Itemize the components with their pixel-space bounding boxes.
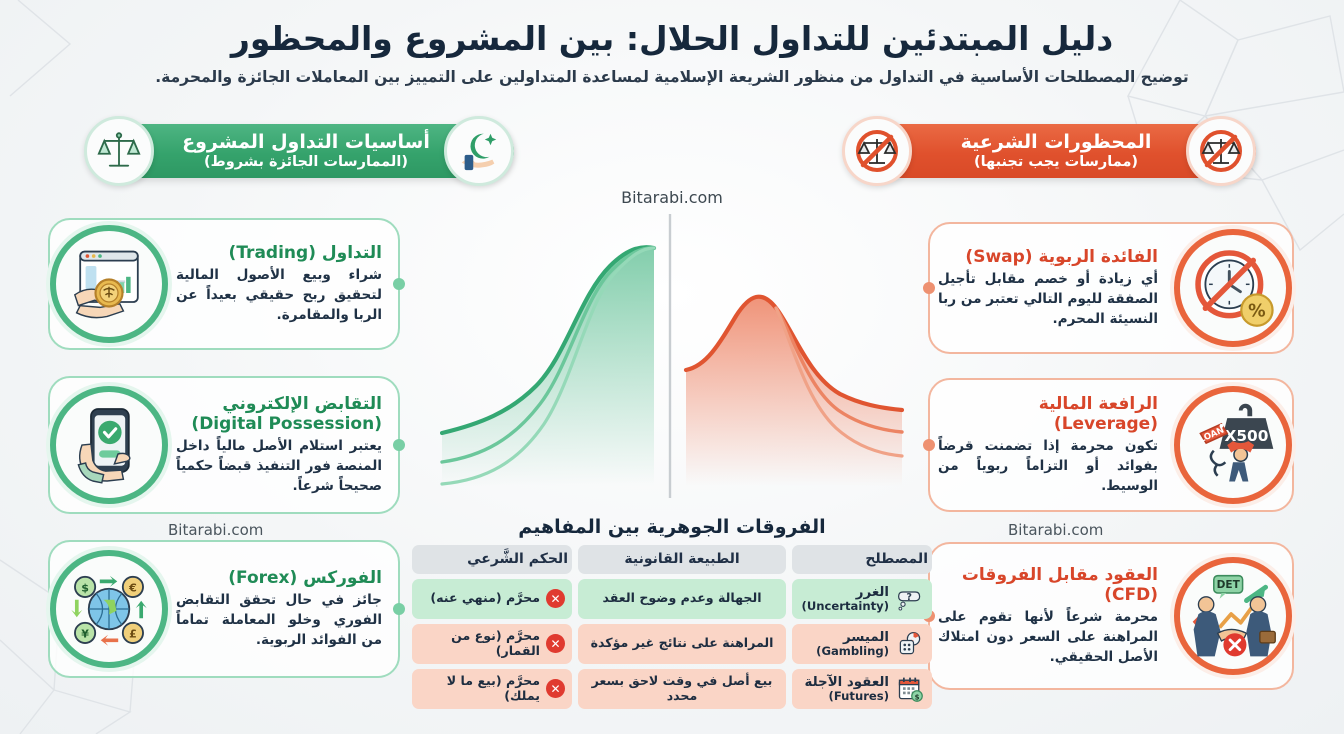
table-row[interactable]: ? الغرر (Uncertainty) الجهالة وعدم وضوح … <box>412 579 932 619</box>
cell-nature: المراهنة على نتائج غير مؤكدة <box>578 624 786 664</box>
table-header-row: المصطلح الطبيعة القانونية الحكم الشَّرعي <box>412 545 932 574</box>
term-arabic: الميسر <box>799 630 889 645</box>
cell-rule: ✕ محرَّم (بيع ما لا يملك) <box>412 669 572 709</box>
connector-dot <box>393 278 405 290</box>
comparison-table: الفروقات الجوهرية بين المفاهيم المصطلح ا… <box>412 516 932 714</box>
cell-nature: بيع أصل في وقت لاحق بسعر محدد <box>578 669 786 709</box>
table-row[interactable]: $ العقود الآجلة (Futures) بيع أصل في وقت… <box>412 669 932 709</box>
rule-text: محرَّم (منهي عنه) <box>430 591 540 605</box>
card-cfd[interactable]: العقود مقابل الفروقات (CFD) محرمة شرعاً … <box>928 542 1294 690</box>
term-arabic: العقود الآجلة <box>799 675 889 690</box>
svg-text:£: £ <box>129 628 137 641</box>
cell-term: الميسر (Gambling) <box>792 624 932 664</box>
banner-prohibited-title: المحظورات الشرعية <box>961 132 1152 153</box>
crescent-hand-icon <box>444 116 514 186</box>
term-english: (Futures) <box>799 690 889 703</box>
rule-text: محرَّم (بيع ما لا يملك) <box>419 674 540 703</box>
term-english: (Uncertainty) <box>799 600 889 613</box>
handshake-chart-x-icon: DET <box>1174 557 1292 675</box>
card-forex-body: جائز في حال تحقق التقابض الفوري وخلو الم… <box>176 591 382 650</box>
cell-rule: ✕ محرَّم (منهي عنه) <box>412 579 572 619</box>
card-cfd-heading: العقود مقابل الفروقات (CFD) <box>938 565 1158 606</box>
card-leverage-heading: الرافعة المالية (Leverage) <box>938 394 1158 435</box>
x-mark-icon: ✕ <box>546 634 565 653</box>
card-leverage-body: تكون محرمة إذا تضمنت قرضاً بفوائد أو الت… <box>938 437 1158 496</box>
infographic-canvas: دليل المبتدئين للتداول الحلال: بين المشر… <box>0 0 1344 734</box>
svg-text:$: $ <box>915 693 920 701</box>
prohibited-scales-icon <box>1186 116 1256 186</box>
term-english: (Gambling) <box>799 645 889 658</box>
watermark-right: Bitarabi.com <box>1008 521 1103 539</box>
watermark-left: Bitarabi.com <box>168 521 263 539</box>
card-digital-possession-heading: التقابض الإلكتروني (Digital Possession) <box>176 394 382 435</box>
banner-permitted-title: أساسيات التداول المشروع <box>182 132 430 153</box>
watermark-center: Bitarabi.com <box>0 188 1344 207</box>
weight-x500-loan-icon: X500 LOAN <box>1174 386 1292 504</box>
trading-screen-hands-coin-icon <box>50 225 168 343</box>
card-swap-heading: الفائدة الربوية (Swap) <box>938 247 1158 267</box>
cell-rule: ✕ محرَّم (نوع من القمار) <box>412 624 572 664</box>
dice-lifering-icon <box>895 629 925 659</box>
banner-prohibited-subtitle: (ممارسات يجب تجنبها) <box>961 154 1152 170</box>
page-title: دليل المبتدئين للتداول الحلال: بين المشر… <box>0 18 1344 59</box>
column-header-nature: الطبيعة القانونية <box>578 545 786 574</box>
cell-term: ? الغرر (Uncertainty) <box>792 579 932 619</box>
banner-permitted-subtitle: (الممارسات الجائزة بشروط) <box>182 154 430 170</box>
card-trading-heading: التداول (Trading) <box>176 243 382 263</box>
globe-currency-exchange-icon: $ € ¥ £ <box>50 550 168 668</box>
svg-text:%: % <box>1248 302 1266 322</box>
svg-text:¥: ¥ <box>81 628 89 641</box>
prohibited-scales-icon <box>842 116 912 186</box>
comparison-table-title: الفروقات الجوهرية بين المفاهيم <box>412 516 932 538</box>
connector-dot <box>393 439 405 451</box>
rule-text: محرَّم (نوع من القمار) <box>419 629 540 658</box>
table-row[interactable]: الميسر (Gambling) المراهنة على نتائج غير… <box>412 624 932 664</box>
card-swap[interactable]: الفائدة الربوية (Swap) أي زيادة أو خصم م… <box>928 222 1294 354</box>
prohibited-clock-percent-icon: % <box>1174 229 1292 347</box>
halal-vs-haram-area-chart <box>440 186 904 508</box>
card-forex-heading: الفوركس (Forex) <box>176 568 382 588</box>
cfd-bubble-label: DET <box>1217 579 1241 591</box>
term-arabic: الغرر <box>799 585 889 600</box>
card-swap-body: أي زيادة أو خصم مقابل تأجيل الصفقة لليوم… <box>938 270 1158 329</box>
column-header-rule: الحكم الشَّرعي <box>412 545 572 574</box>
svg-text:€: € <box>128 582 137 595</box>
svg-text:?: ? <box>906 591 912 602</box>
column-header-term: المصطلح <box>792 545 932 574</box>
page-subtitle: توضيح المصطلحات الأساسية في التداول من م… <box>0 68 1344 86</box>
card-digital-possession[interactable]: التقابض الإلكتروني (Digital Possession) … <box>48 376 400 514</box>
x-mark-icon: ✕ <box>546 679 565 698</box>
card-trading-body: شراء وبيع الأصول المالية لتحقيق ربح حقيق… <box>176 266 382 325</box>
card-trading[interactable]: التداول (Trading) شراء وبيع الأصول المال… <box>48 218 400 350</box>
svg-text:$: $ <box>81 582 89 595</box>
scales-icon <box>84 116 154 186</box>
card-forex[interactable]: $ € ¥ £ الفوركس (Forex) جائز في حال تحقق… <box>48 540 400 678</box>
phone-check-hand-icon <box>50 386 168 504</box>
x-mark-icon: ✕ <box>546 589 565 608</box>
cell-nature: الجهالة وعدم وضوح العقد <box>578 579 786 619</box>
thought-question-icon: ? <box>895 584 925 614</box>
cell-term: $ العقود الآجلة (Futures) <box>792 669 932 709</box>
card-cfd-body: محرمة شرعاً لأنها تقوم على المراهنة على … <box>938 608 1158 667</box>
calendar-dollar-icon: $ <box>895 674 925 704</box>
connector-dot <box>923 282 935 294</box>
card-digital-possession-body: يعتبر استلام الأصل مالياً داخل المنصة فو… <box>176 437 382 496</box>
connector-dot <box>923 439 935 451</box>
header-block: دليل المبتدئين للتداول الحلال: بين المشر… <box>0 18 1344 86</box>
connector-dot <box>393 603 405 615</box>
card-leverage[interactable]: الرافعة المالية (Leverage) تكون محرمة إذ… <box>928 378 1294 512</box>
